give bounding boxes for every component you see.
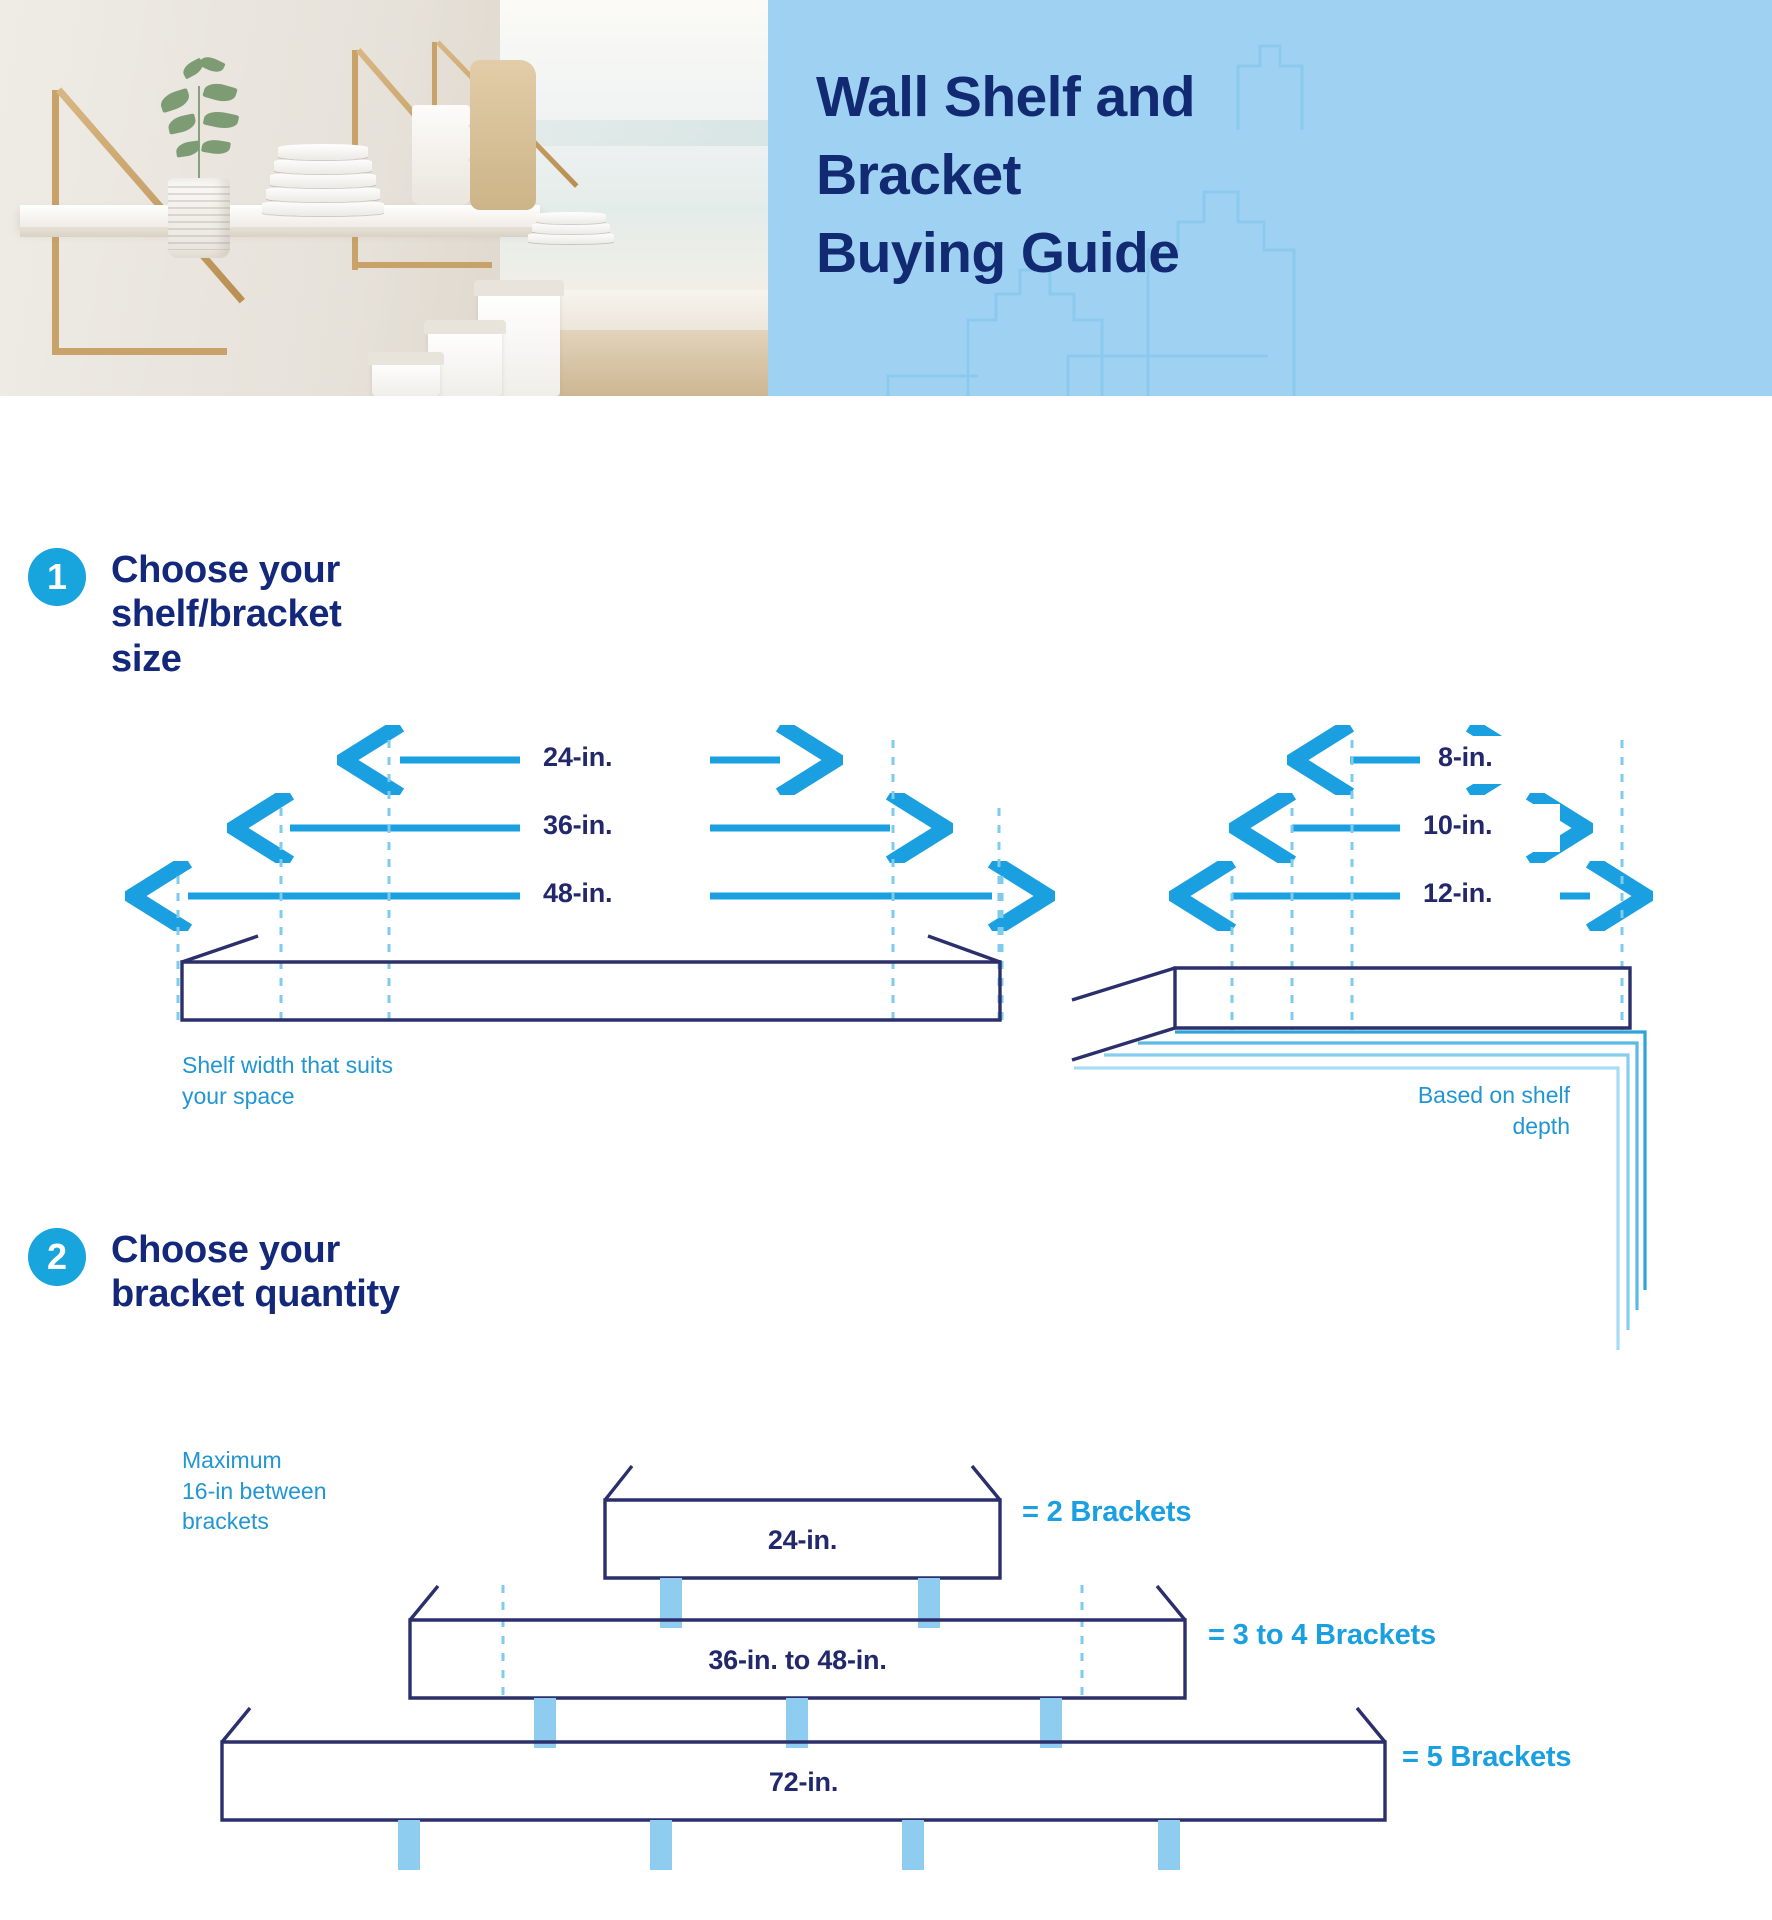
shelf-depth-caption: Based on shelf depth [1290,1080,1570,1141]
hero-banner: Wall Shelf and Bracket Buying Guide [0,0,1772,396]
depth-caption-line-2: depth [1290,1111,1570,1142]
page-title: Wall Shelf and Bracket Buying Guide [816,58,1376,292]
step-2-title-line-2: bracket quantity [111,1272,400,1316]
title-line-3: Buying Guide [816,214,1376,292]
shelf-width-caption: Shelf width that suits your space [182,1050,522,1111]
row-1-size: 24-in. [605,1525,1000,1556]
depth-dim-8: 8-in. [1438,742,1493,773]
depth-caption-line-1: Based on shelf [1290,1080,1570,1111]
title-line-1: Wall Shelf and [816,58,1376,136]
infographic-page: Wall Shelf and Bracket Buying Guide 1 Ch… [0,0,1772,1920]
width-dim-48: 48-in. [543,878,612,909]
step-2-title: Choose your bracket quantity [111,1228,400,1317]
note-line-1: Maximum [182,1445,482,1476]
depth-dim-10: 10-in. [1423,810,1492,841]
title-line-2: Bracket [816,136,1376,214]
width-dim-36: 36-in. [543,810,612,841]
step-2-badge: 2 [28,1228,86,1286]
row-3-result: = 5 Brackets [1402,1741,1571,1774]
shelf-depth-slab [1072,968,1630,1060]
step-1-badge: 1 [28,548,86,606]
row-3-size: 72-in. [222,1767,1385,1798]
width-caption-line-1: Shelf width that suits [182,1050,522,1081]
step-2-header: 2 Choose your bracket quantity [28,1228,400,1317]
width-caption-line-2: your space [182,1081,522,1112]
max-spacing-note: Maximum 16-in between brackets [182,1445,482,1537]
note-line-3: brackets [182,1506,482,1537]
step-1-title-line-1: Choose your [111,548,342,592]
depth-dim-12: 12-in. [1423,878,1492,909]
hero-photo [0,0,768,396]
step-1-header: 1 Choose your shelf/bracket size [28,548,342,681]
row-2-size: 36-in. to 48-in. [410,1645,1185,1676]
hero-title-band: Wall Shelf and Bracket Buying Guide [768,0,1772,396]
row-1-result: = 2 Brackets [1022,1496,1191,1529]
step-1-title: Choose your shelf/bracket size [111,548,342,681]
width-dim-24: 24-in. [543,742,612,773]
step-1-title-line-2: shelf/bracket [111,592,342,636]
note-line-2: 16-in between [182,1476,482,1507]
step-1-title-line-3: size [111,637,342,681]
step-2-title-line-1: Choose your [111,1228,400,1272]
shelf-width-slab [182,936,1000,1020]
row-2-result: = 3 to 4 Brackets [1208,1619,1436,1652]
